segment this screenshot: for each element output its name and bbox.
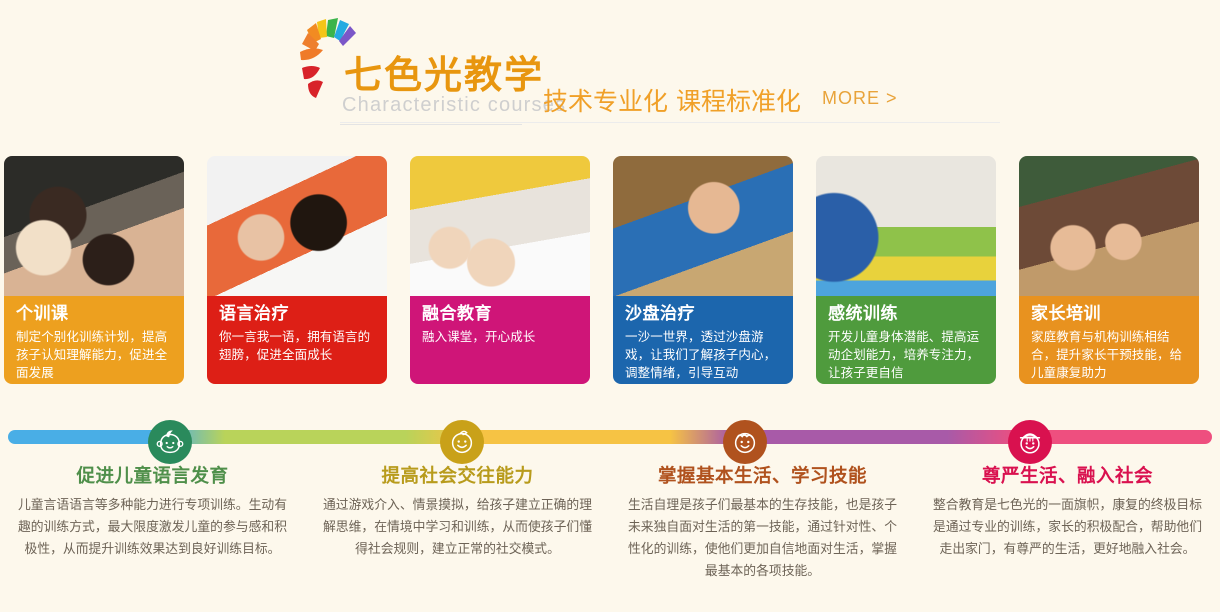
feature-blurb-title: 掌握基本生活、学习技能 xyxy=(628,462,897,488)
course-card-title: 语言治疗 xyxy=(219,304,377,324)
course-card-body: 沙盘治疗 一沙一世界，透过沙盘游戏，让我们了解孩子内心，调整情绪，引导互动 xyxy=(613,296,793,384)
logo-chinese-text: 七色光教学 xyxy=(344,44,544,99)
header-slogan: 技术专业化 课程标准化 xyxy=(543,82,801,118)
course-card-photo xyxy=(613,156,793,304)
course-card-4[interactable]: 感统训练 开发儿童身体潜能、提高运动企划能力，培养专注力，让孩子更自信 xyxy=(816,156,996,384)
course-card-photo xyxy=(410,156,590,304)
feature-blurb-title: 尊严生活、融入社会 xyxy=(933,462,1202,488)
feature-blurb-2: 掌握基本生活、学习技能 生活自理是孩子们最基本的生存技能，也是孩子未来独自面对生… xyxy=(610,462,915,592)
course-card-3[interactable]: 沙盘治疗 一沙一世界，透过沙盘游戏，让我们了解孩子内心，调整情绪，引导互动 xyxy=(613,156,793,384)
logo-english-text: Characteristic courses xyxy=(342,94,566,117)
course-card-title: 家长培训 xyxy=(1031,304,1189,324)
baby-face-curl-icon xyxy=(155,427,185,457)
course-card-title: 沙盘治疗 xyxy=(625,304,783,324)
course-card-body: 融合教育 融入课堂，开心成长 xyxy=(410,296,590,384)
course-card-photo xyxy=(816,156,996,304)
course-card-5[interactable]: 家长培训 家庭教育与机构训练相结合，提升家长干预技能，给儿童康复助力 xyxy=(1019,156,1199,384)
child-face-cap-icon xyxy=(1015,427,1045,457)
course-card-photo xyxy=(207,156,387,304)
timeline-node-1[interactable] xyxy=(440,420,484,464)
course-card-desc: 家庭教育与机构训练相结合，提升家长干预技能，给儿童康复助力 xyxy=(1031,328,1189,381)
course-card-title: 融合教育 xyxy=(422,304,580,324)
header-divider xyxy=(340,122,1000,123)
progress-timeline xyxy=(0,420,1220,460)
feature-blurb-3: 尊严生活、融入社会 整合教育是七色光的一面旗帜，康复的终极目标是通过专业的训练，… xyxy=(915,462,1220,592)
more-link[interactable]: MORE > xyxy=(822,88,898,109)
feature-blurb-0: 促进儿童语言发育 儿童言语语言等多种能力进行专项训练。生动有趣的训练方式，最大限… xyxy=(0,462,305,592)
header-logo-group: 七色光教学 Characteristic courses xyxy=(298,14,530,118)
course-card-title: 个训课 xyxy=(16,304,174,324)
course-card-1[interactable]: 语言治疗 你一言我一语，拥有语言的翅膀，促进全面成长 xyxy=(207,156,387,384)
feature-blurb-text: 儿童言语语言等多种能力进行专项训练。生动有趣的训练方式，最大限度激发儿童的参与感… xyxy=(18,495,287,561)
feature-blurb-text: 通过游戏介入、情景摸拟，给孩子建立正确的理解思维，在情境中学习和训练，从而使孩子… xyxy=(323,495,592,561)
course-card-body: 语言治疗 你一言我一语，拥有语言的翅膀，促进全面成长 xyxy=(207,296,387,384)
course-card-photo xyxy=(4,156,184,304)
brand-logo[interactable]: 七色光教学 Characteristic courses xyxy=(298,14,530,118)
page-header: 七色光教学 Characteristic courses 技术专业化 课程标准化… xyxy=(0,0,1220,132)
course-card-0[interactable]: 个训课 制定个别化训练计划，提高孩子认知理解能力，促进全面发展 xyxy=(4,156,184,384)
course-card-title: 感统训练 xyxy=(828,304,986,324)
course-card-body: 家长培训 家庭教育与机构训练相结合，提升家长干预技能，给儿童康复助力 xyxy=(1019,296,1199,384)
course-card-desc: 一沙一世界，透过沙盘游戏，让我们了解孩子内心，调整情绪，引导互动 xyxy=(625,328,783,381)
course-card-body: 个训课 制定个别化训练计划，提高孩子认知理解能力，促进全面发展 xyxy=(4,296,184,384)
baby-face-smile-icon xyxy=(447,427,477,457)
feature-blurb-1: 提高社会交往能力 通过游戏介入、情景摸拟，给孩子建立正确的理解思维，在情境中学习… xyxy=(305,462,610,592)
logo-underline xyxy=(340,124,522,125)
feature-blurb-list: 促进儿童语言发育 儿童言语语言等多种能力进行专项训练。生动有趣的训练方式，最大限… xyxy=(0,462,1220,592)
course-card-desc: 开发儿童身体潜能、提高运动企划能力，培养专注力，让孩子更自信 xyxy=(828,328,986,381)
course-card-desc: 制定个别化训练计划，提高孩子认知理解能力，促进全面发展 xyxy=(16,328,174,381)
timeline-node-3[interactable] xyxy=(1008,420,1052,464)
child-face-hair-icon xyxy=(730,427,760,457)
timeline-node-2[interactable] xyxy=(723,420,767,464)
page-root: 七色光教学 Characteristic courses 技术专业化 课程标准化… xyxy=(0,0,1220,612)
course-card-photo xyxy=(1019,156,1199,304)
course-card-2[interactable]: 融合教育 融入课堂，开心成长 xyxy=(410,156,590,384)
feature-blurb-text: 整合教育是七色光的一面旗帜，康复的终极目标是通过专业的训练，家长的积极配合，帮助… xyxy=(933,495,1202,561)
feature-blurb-title: 提高社会交往能力 xyxy=(323,462,592,488)
feature-blurb-title: 促进儿童语言发育 xyxy=(18,462,287,488)
course-card-list: 个训课 制定个别化训练计划，提高孩子认知理解能力，促进全面发展 语言治疗 你一言… xyxy=(0,156,1220,384)
timeline-node-0[interactable] xyxy=(148,420,192,464)
course-card-desc: 你一言我一语，拥有语言的翅膀，促进全面成长 xyxy=(219,328,377,364)
feature-blurb-text: 生活自理是孩子们最基本的生存技能，也是孩子未来独自面对生活的第一技能，通过针对性… xyxy=(628,495,897,583)
course-card-body: 感统训练 开发儿童身体潜能、提高运动企划能力，培养专注力，让孩子更自信 xyxy=(816,296,996,384)
course-card-desc: 融入课堂，开心成长 xyxy=(422,328,580,346)
